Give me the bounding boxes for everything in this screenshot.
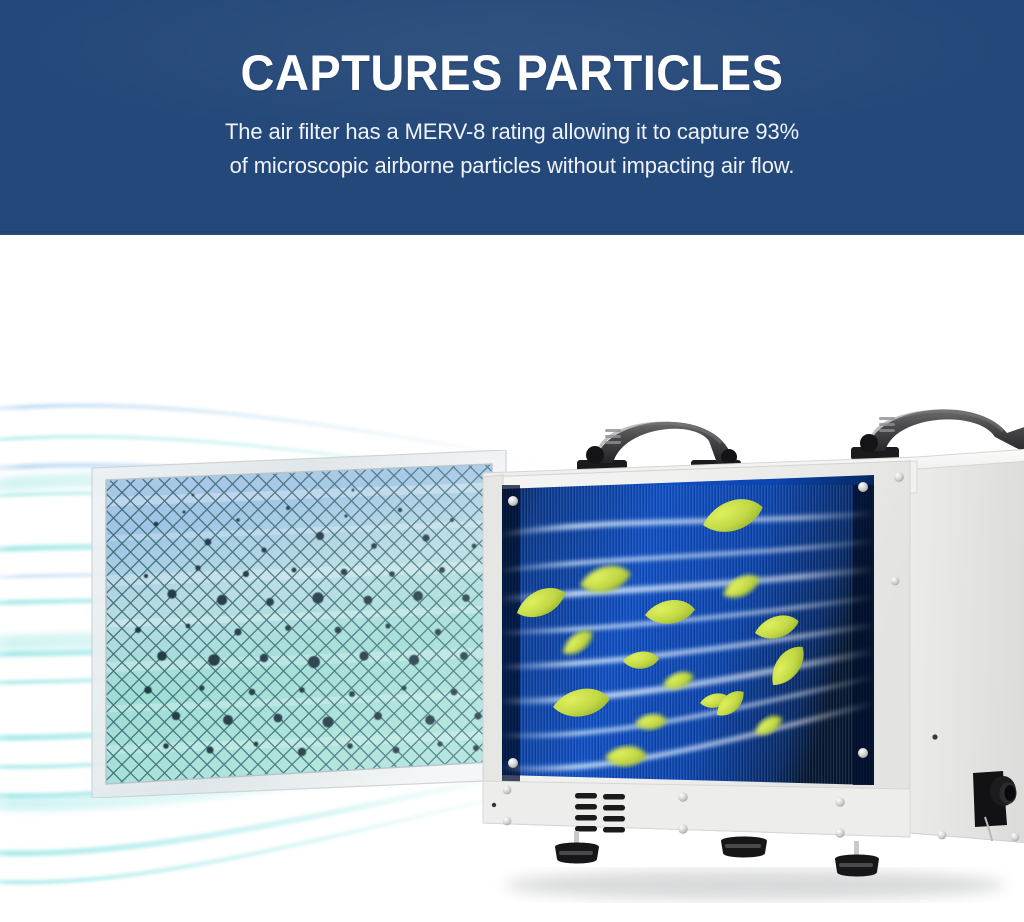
adjustable-rubber-feet <box>555 831 879 877</box>
dehumidifier-unit <box>455 385 1024 922</box>
floor-shadow <box>505 870 1005 900</box>
page-subtitle: The air filter has a MERV-8 rating allow… <box>13 115 1011 183</box>
evaporator-coil-panel <box>499 473 877 790</box>
air-filter-panel <box>88 450 508 798</box>
filter-media <box>88 464 508 784</box>
screw-coil-top-right <box>858 482 868 492</box>
product-feature-image: CAPTURES PARTICLES The air filter has a … <box>0 0 1024 922</box>
foot-left <box>555 831 599 864</box>
subtitle-line-2: of microscopic airborne particles withou… <box>13 149 1011 183</box>
lower-front-panel <box>483 781 910 837</box>
screw-coil-bottom-left <box>508 758 518 768</box>
product-scene: Commercial Dehumidifier MERV-8 Air Filte… <box>0 235 1024 922</box>
page-title: CAPTURES PARTICLES <box>31 43 994 103</box>
foot-right <box>835 841 879 877</box>
screw-coil-top-left <box>508 496 518 506</box>
foot-middle <box>721 837 767 858</box>
side-vent-hole <box>932 734 937 739</box>
subtitle-line-1: The air filter has a MERV-8 rating allow… <box>13 115 1011 149</box>
screw-coil-bottom-right <box>858 748 868 758</box>
header-banner: CAPTURES PARTICLES The air filter has a … <box>0 0 1024 235</box>
left-frame-edge <box>483 475 503 823</box>
